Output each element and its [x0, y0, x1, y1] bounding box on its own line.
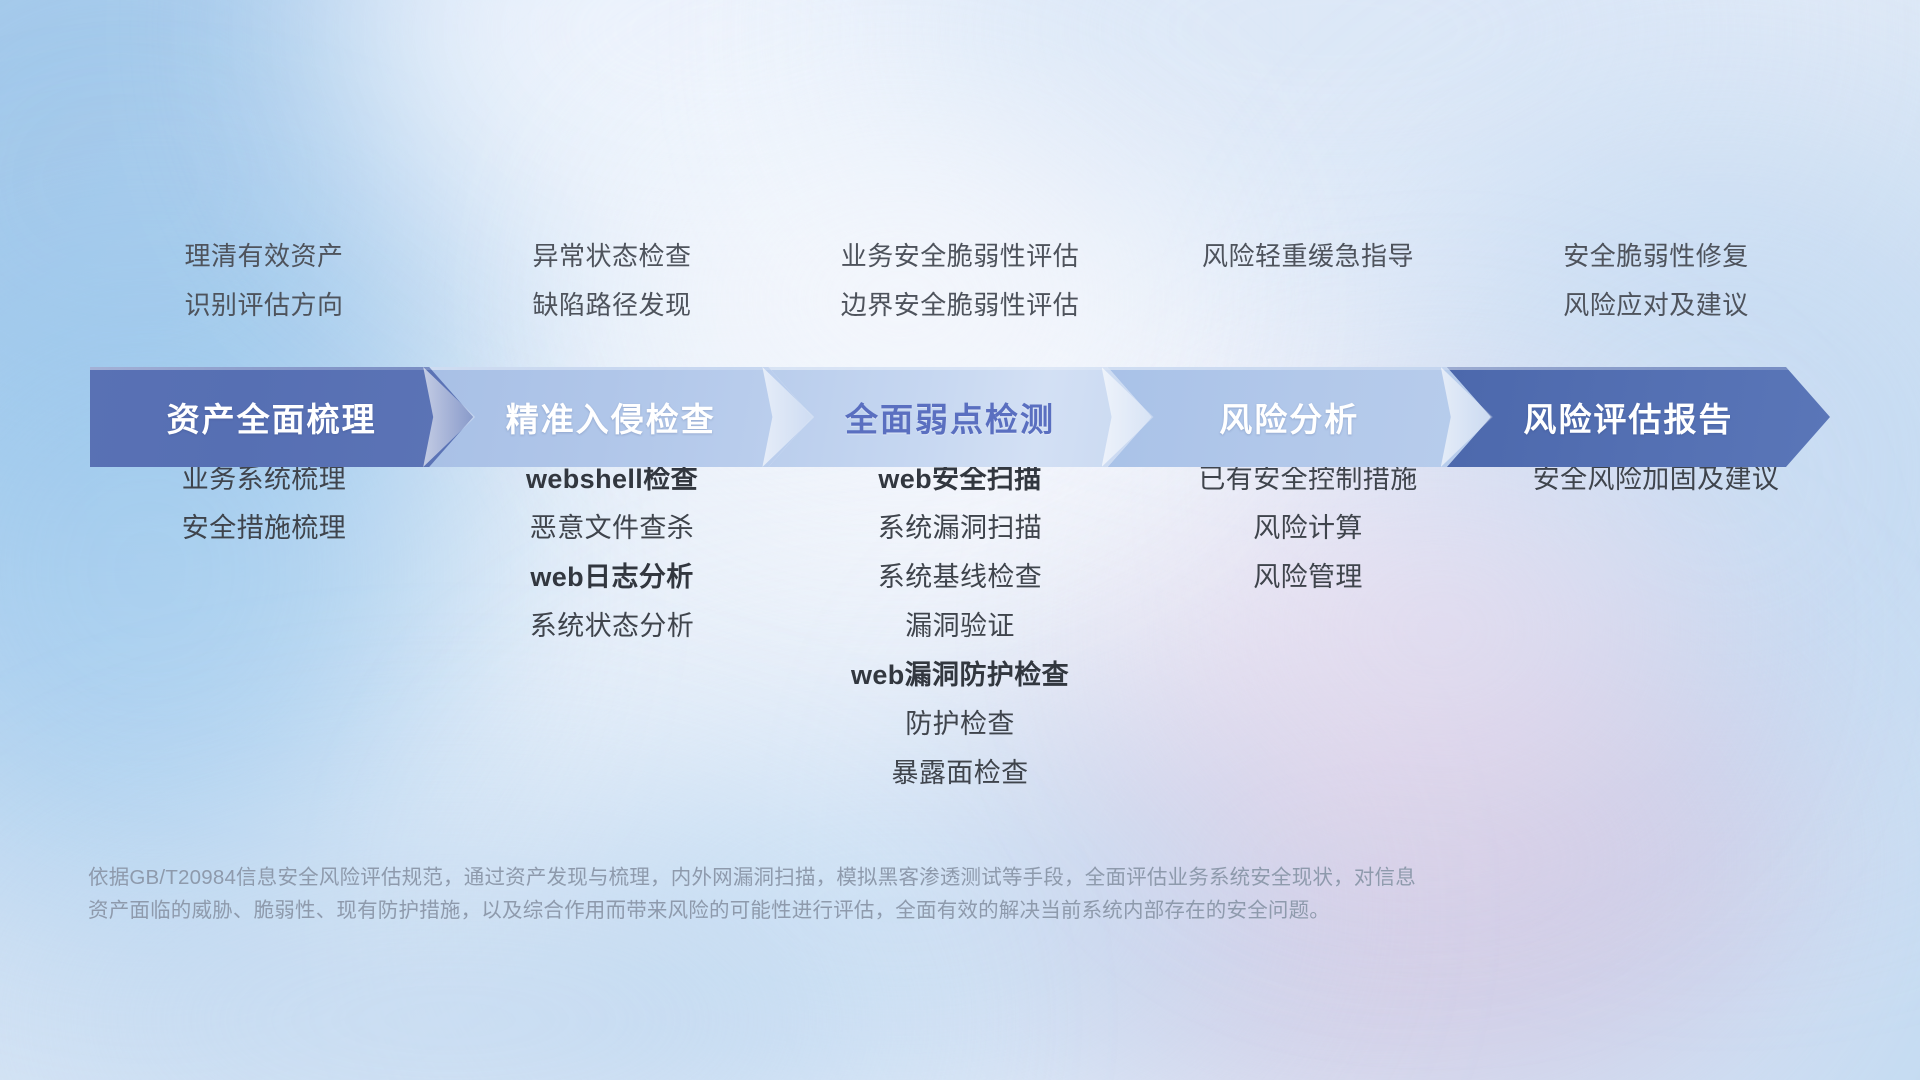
slide-canvas: 理清有效资产识别评估方向异常状态检查缺陷路径发现业务安全脆弱性评估边界安全脆弱性… — [0, 0, 1920, 1080]
chevron-top-highlight — [429, 367, 812, 370]
process-stage-risk-analysis[interactable]: 风险分析 — [1108, 367, 1491, 467]
process-stage-label: 风险分析 — [1219, 393, 1359, 441]
bottom-item: 系统漏洞扫描 — [786, 504, 1134, 553]
top-column-weakness: 业务安全脆弱性评估边界安全脆弱性评估 — [786, 232, 1134, 330]
top-item: 识别评估方向 — [90, 281, 438, 330]
bottom-column-intrusion: webshell检查恶意文件查杀web日志分析系统状态分析 — [438, 455, 786, 798]
bottom-item: 系统基线检查 — [786, 553, 1134, 602]
bottom-item: 风险管理 — [1134, 553, 1482, 602]
process-stage-label: 全面弱点检测 — [845, 393, 1055, 441]
top-column-intrusion: 异常状态检查缺陷路径发现 — [438, 232, 786, 330]
bottom-item: 系统状态分析 — [438, 602, 786, 651]
bottom-item: 安全措施梳理 — [90, 504, 438, 553]
footer-line-1: 依据GB/T20984信息安全风险评估规范，通过资产发现与梳理，内外网漏洞扫描，… — [88, 861, 1608, 894]
bottom-column-report: 安全风险加固及建议 — [1482, 455, 1830, 798]
chevron-top-highlight — [1447, 367, 1830, 370]
bottom-item: 暴露面检查 — [786, 749, 1134, 798]
process-stage-label: 风险评估报告 — [1523, 393, 1733, 441]
bottom-column-asset: 业务系统梳理安全措施梳理 — [90, 455, 438, 798]
chevron-top-highlight — [90, 367, 473, 370]
footer-line-2: 资产面临的威胁、脆弱性、现有防护措施，以及综合作用而带来风险的可能性进行评估，全… — [88, 894, 1608, 927]
process-stage-intrusion[interactable]: 精准入侵检查 — [429, 367, 812, 467]
bottom-item: web日志分析 — [438, 553, 786, 602]
bottom-column-risk-analysis: 已有安全控制措施风险计算风险管理 — [1134, 455, 1482, 798]
top-item: 安全脆弱性修复 — [1482, 232, 1830, 281]
top-item: 边界安全脆弱性评估 — [786, 281, 1134, 330]
top-column-report: 安全脆弱性修复风险应对及建议 — [1482, 232, 1830, 330]
top-item: 业务安全脆弱性评估 — [786, 232, 1134, 281]
top-descriptor-row: 理清有效资产识别评估方向异常状态检查缺陷路径发现业务安全脆弱性评估边界安全脆弱性… — [90, 232, 1830, 330]
process-stage-report[interactable]: 风险评估报告 — [1447, 367, 1830, 467]
top-item: 缺陷路径发现 — [438, 281, 786, 330]
bottom-detail-row: 业务系统梳理安全措施梳理webshell检查恶意文件查杀web日志分析系统状态分… — [90, 455, 1830, 798]
bottom-item: 漏洞验证 — [786, 602, 1134, 651]
top-item: 风险应对及建议 — [1482, 281, 1830, 330]
process-chevron-band: 资产全面梳理精准入侵检查全面弱点检测风险分析风险评估报告 — [90, 367, 1830, 467]
top-column-risk-analysis: 风险轻重缓急指导 — [1134, 232, 1482, 330]
top-item: 理清有效资产 — [90, 232, 438, 281]
bottom-column-weakness: web安全扫描系统漏洞扫描系统基线检查漏洞验证web漏洞防护检查防护检查暴露面检… — [786, 455, 1134, 798]
chevron-top-highlight — [1108, 367, 1491, 370]
footer-description: 依据GB/T20984信息安全风险评估规范，通过资产发现与梳理，内外网漏洞扫描，… — [88, 861, 1608, 927]
bottom-item: 防护检查 — [786, 700, 1134, 749]
process-stage-weakness[interactable]: 全面弱点检测 — [768, 367, 1151, 467]
bottom-item: 风险计算 — [1134, 504, 1482, 553]
process-stage-asset[interactable]: 资产全面梳理 — [90, 367, 473, 467]
top-column-asset: 理清有效资产识别评估方向 — [90, 232, 438, 330]
bottom-item: 恶意文件查杀 — [438, 504, 786, 553]
process-stage-label: 资产全面梳理 — [167, 393, 377, 441]
process-stage-label: 精准入侵检查 — [506, 393, 716, 441]
chevron-top-highlight — [768, 367, 1151, 370]
top-item: 异常状态检查 — [438, 232, 786, 281]
top-item: 风险轻重缓急指导 — [1134, 232, 1482, 281]
bottom-item: web漏洞防护检查 — [786, 651, 1134, 700]
